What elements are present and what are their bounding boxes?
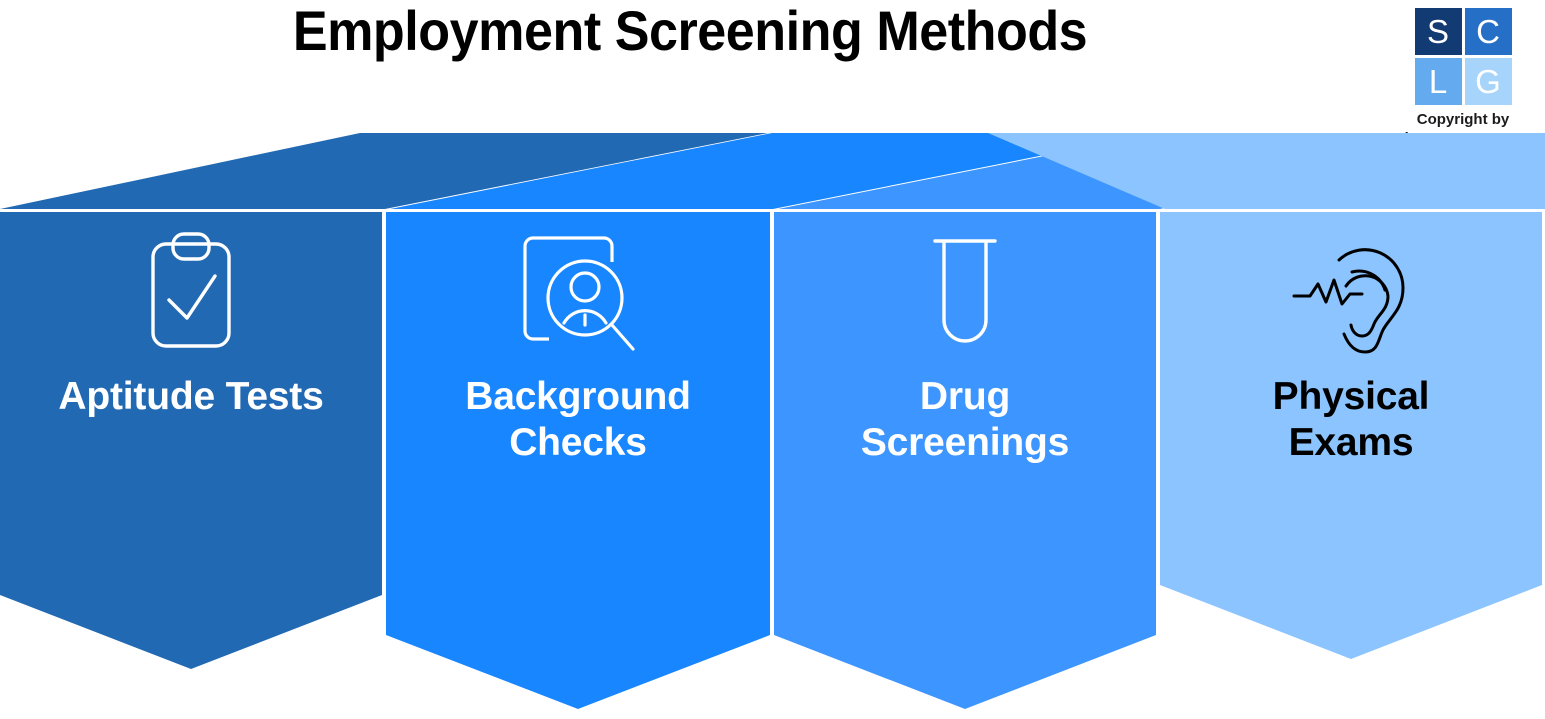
ear-soundwave-icon: [1160, 230, 1542, 360]
page-title: Employment Screening Methods: [48, 2, 1331, 61]
test-tube-icon: [774, 230, 1156, 360]
panel-drug-screenings[interactable]: Drug Screenings: [774, 230, 1156, 466]
document-magnifier-person-icon: [386, 230, 770, 360]
shouse-law-group-logo: S C L G: [1415, 8, 1512, 105]
panel-aptitude-tests[interactable]: Aptitude Tests: [0, 230, 382, 420]
panel-label-drug-screenings: Drug Screenings: [774, 374, 1156, 466]
panel-label-background-checks: Background Checks: [386, 374, 770, 466]
infographic-canvas: Employment Screening Methods S C L G Cop…: [0, 0, 1545, 719]
panel-background-checks[interactable]: Background Checks: [386, 230, 770, 466]
logo-cell-s: S: [1415, 8, 1462, 55]
chevron-banner: Aptitude Tests Background Checks: [0, 125, 1545, 719]
panel-physical-exams[interactable]: Physical Exams: [1160, 230, 1542, 466]
logo-cell-l: L: [1415, 58, 1462, 105]
panel-label-physical-exams: Physical Exams: [1160, 374, 1542, 466]
panel-label-aptitude-tests: Aptitude Tests: [0, 374, 382, 420]
clipboard-check-icon: [0, 230, 382, 360]
logo-cell-g: G: [1465, 58, 1512, 105]
logo-cell-c: C: [1465, 8, 1512, 55]
